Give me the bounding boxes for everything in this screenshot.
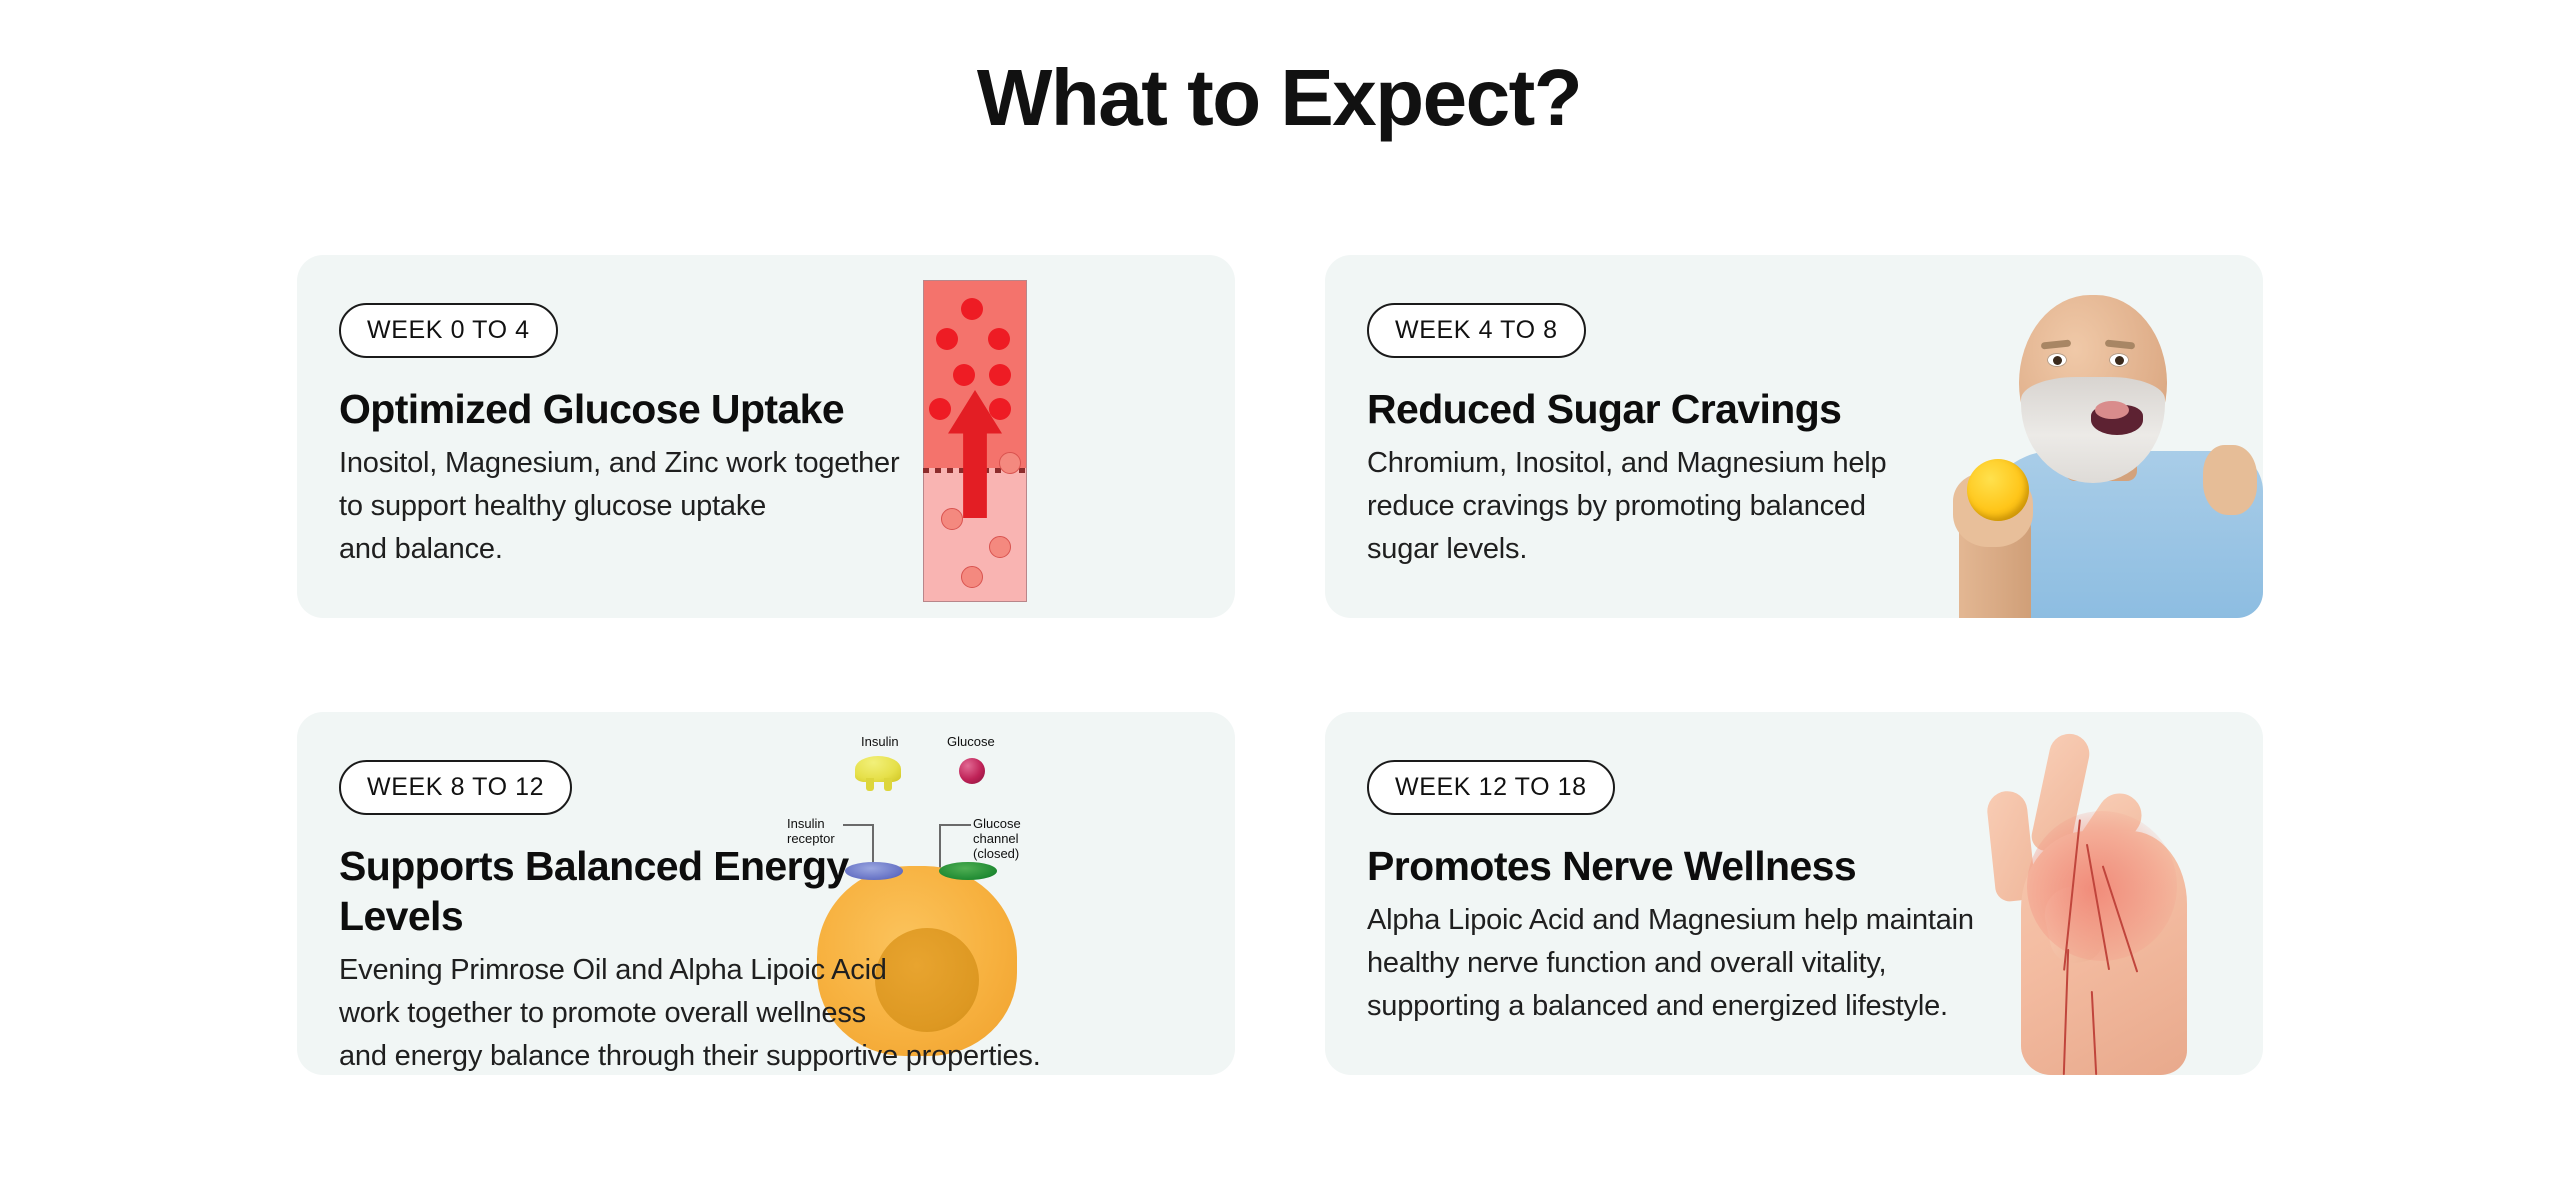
what-to-expect-section: What to Expect? WEEK 0 TO 4 [0,0,2558,1186]
uptake-arrow-icon [948,390,1002,518]
card-title: Supports Balanced Energy Levels [339,841,917,941]
glucose-uptake-diagram [923,280,1027,602]
neck [2065,441,2137,481]
finger [2084,830,2179,918]
shirt [1983,451,2263,618]
finger [2060,785,2150,889]
glucose-molecule-icon [959,758,985,784]
glucose-channel-icon [939,862,997,880]
glucose-dot-faded [989,536,1011,558]
glucose-dot [988,328,1010,350]
glucose-dot-faded [961,566,983,588]
nerve-line [2091,991,2097,1075]
hand-raised [2203,445,2257,515]
glucose-dot [989,364,1011,386]
card-content: WEEK 4 TO 8 Reduced Sugar Cravings Chrom… [1325,255,2025,571]
eye-left [2047,353,2067,367]
card-description: Chromium, Inositol, and Magnesium help r… [1367,442,2025,571]
week-badge: WEEK 4 TO 8 [1367,303,1586,358]
head [2019,295,2167,465]
glucose-dot [989,398,1011,420]
nerve-line [2063,819,2081,970]
glucose-dot-faded [941,508,963,530]
week-badge: WEEK 8 TO 12 [339,760,572,815]
week-badge: WEEK 0 TO 4 [339,303,558,358]
nerve-line [2102,865,2139,972]
nerve-pain-highlight [2027,811,2177,961]
glucose-dot [929,398,951,420]
beard [2021,377,2165,483]
eyebrow-left [2041,339,2072,349]
eye-right [2109,353,2129,367]
nerve-line [2086,844,2110,970]
card-reduced-sugar-cravings[interactable]: WEEK 4 TO 8 Reduced Sugar Cravings Chrom… [1325,255,2263,618]
card-description: Alpha Lipoic Acid and Magnesium help mai… [1367,899,2025,1028]
card-content: WEEK 8 TO 12 Supports Balanced Energy Le… [297,712,917,1075]
card-description: Inositol, Magnesium, and Zinc work toget… [339,442,917,571]
glucose-dot [936,328,958,350]
card-description: Evening Primrose Oil and Alpha Lipoic Ac… [339,949,1169,1075]
expectation-cards-grid: WEEK 0 TO 4 Optimized Glucose Uptake Ino… [297,255,2263,1075]
glucose-channel-label: Glucose channel (closed) [973,816,1021,861]
tongue [2095,401,2129,419]
glucose-label: Glucose [947,734,995,749]
glucose-dot [953,364,975,386]
finger-index [2029,730,2093,856]
card-title: Reduced Sugar Cravings [1367,384,2025,434]
card-promotes-nerve-wellness[interactable]: WEEK 12 TO 18 Promotes Nerve Wellness Al… [1325,712,2263,1075]
card-optimized-glucose-uptake[interactable]: WEEK 0 TO 4 Optimized Glucose Uptake Ino… [297,255,1235,618]
card-supports-balanced-energy-levels[interactable]: Insulin Glucose Insulin receptor Glucose… [297,712,1235,1075]
card-title: Optimized Glucose Uptake [339,384,917,434]
glucose-dot [961,298,983,320]
leader-line [939,824,941,870]
card-title: Promotes Nerve Wellness [1367,841,2025,891]
palm [2021,831,2187,1075]
nerve-line [2063,949,2069,1075]
membrane-box [923,280,1027,602]
glucose-dot-faded [999,452,1021,474]
card-content: WEEK 0 TO 4 Optimized Glucose Uptake Ino… [297,255,917,571]
mouth [2091,405,2143,435]
thumb [2040,882,2107,967]
page-title: What to Expect? [0,50,2558,146]
leader-line [939,824,971,826]
eyebrow-right [2105,339,2136,349]
week-badge: WEEK 12 TO 18 [1367,760,1615,815]
membrane-dashed-line [923,468,1027,473]
card-content: WEEK 12 TO 18 Promotes Nerve Wellness Al… [1325,712,2025,1028]
